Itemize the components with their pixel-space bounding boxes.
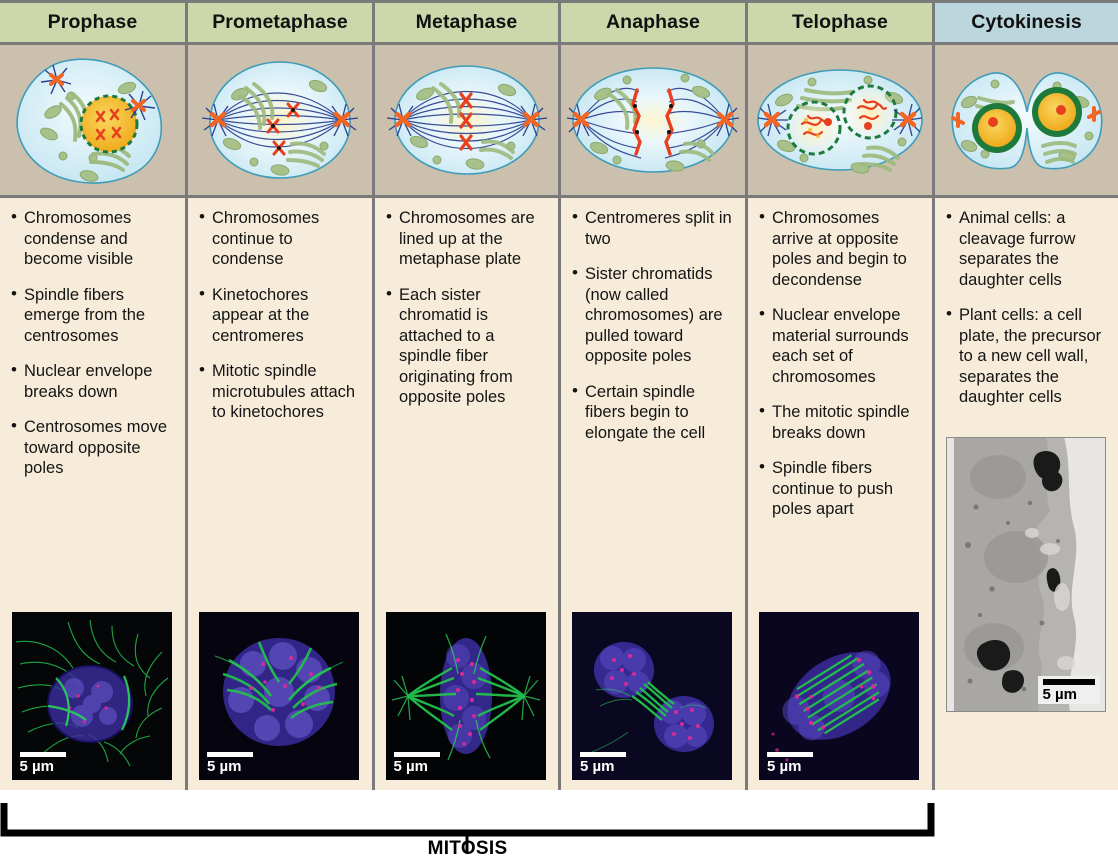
panel-anaphase: Centromeres split in two Sister chromati… <box>561 198 745 790</box>
scale-bar-line <box>207 752 253 757</box>
header-cytokinesis: Cytokinesis <box>935 0 1118 45</box>
panel-telophase: Chromosomes arrive at opposite poles and… <box>748 198 932 790</box>
mitosis-figure: Prophase <box>0 0 1118 861</box>
scale-bar-label: 5 µm <box>394 758 429 775</box>
header-telophase: Telophase <box>748 0 932 45</box>
column-telophase: Telophase <box>748 0 935 790</box>
bullet-item: Spindle fibers emerge from the centrosom… <box>10 285 177 347</box>
micrograph-wrap-telophase: 5 µm <box>754 612 924 782</box>
scale-bar-telophase: 5 µm <box>767 752 813 774</box>
micrograph-wrap-anaphase: 5 µm <box>567 612 737 782</box>
panel-cytokinesis: Animal cells: a cleavage furrow separate… <box>935 198 1118 790</box>
bullet-item: Spindle fibers continue to push poles ap… <box>758 458 924 520</box>
column-prometaphase: Prometaphase <box>188 0 375 790</box>
bullet-item: Chromosomes condense and become visible <box>10 208 177 270</box>
scale-bar-anaphase: 5 µm <box>580 752 626 774</box>
bullet-item: Centromeres split in two <box>571 208 737 249</box>
prophase-fluorescence-micrograph: 5 µm <box>12 612 172 780</box>
bullets-prometaphase: Chromosomes continue to condense Kinetoc… <box>194 208 364 438</box>
bullet-item: Chromosomes arrive at opposite poles and… <box>758 208 924 290</box>
scale-bar-label: 5 µm <box>20 758 55 775</box>
bullets-cytokinesis: Animal cells: a cleavage furrow separate… <box>941 208 1110 423</box>
scale-bar-label: 5 µm <box>767 758 802 775</box>
column-cytokinesis: Cytokinesis <box>935 0 1118 790</box>
bullets-anaphase: Centromeres split in two Sister chromati… <box>567 208 737 458</box>
column-prophase: Prophase <box>0 0 188 790</box>
bullet-item: Chromosomes are lined up at the metaphas… <box>385 208 550 270</box>
scale-bar-cytokinesis: 5 µm <box>1038 676 1100 704</box>
phase-table: Prophase <box>0 0 1118 790</box>
micrograph-wrap-prometaphase: 5 µm <box>194 612 364 782</box>
panel-prophase: Chromosomes condense and become visible … <box>0 198 185 790</box>
bullet-item: Certain spindle fibers begin to elongate… <box>571 382 737 444</box>
scale-bar-prophase: 5 µm <box>20 752 66 774</box>
bullet-item: Animal cells: a cleavage furrow separate… <box>945 208 1110 290</box>
bullets-telophase: Chromosomes arrive at opposite poles and… <box>754 208 924 535</box>
header-prometaphase: Prometaphase <box>188 0 372 45</box>
header-metaphase: Metaphase <box>375 0 558 45</box>
scale-bar-line <box>1043 679 1095 685</box>
illustration-metaphase <box>375 45 558 198</box>
bullet-item: Plant cells: a cell plate, the precursor… <box>945 305 1110 408</box>
bullet-item: Each sister chromatid is attached to a s… <box>385 285 550 408</box>
mitosis-label: MITOSIS <box>0 838 935 860</box>
metaphase-fluorescence-micrograph: 5 µm <box>386 612 546 780</box>
micrograph-wrap-cytokinesis: 5 µm <box>941 437 1110 714</box>
illustration-cytokinesis <box>935 45 1118 198</box>
scale-bar-metaphase: 5 µm <box>394 752 440 774</box>
scale-bar-label: 5 µm <box>580 758 615 775</box>
bullet-item: Chromosomes continue to condense <box>198 208 364 270</box>
illustration-prophase <box>0 45 185 198</box>
illustration-anaphase <box>561 45 745 198</box>
scale-bar-label: 5 µm <box>207 758 242 775</box>
scale-bar-line <box>394 752 440 757</box>
header-anaphase: Anaphase <box>561 0 745 45</box>
scale-bar-line <box>580 752 626 757</box>
cytokinesis-electron-micrograph: 5 µm <box>946 437 1106 712</box>
illustration-prometaphase <box>188 45 372 198</box>
column-metaphase: Metaphase <box>375 0 561 790</box>
scale-bar-prometaphase: 5 µm <box>207 752 253 774</box>
panel-metaphase: Chromosomes are lined up at the metaphas… <box>375 198 558 790</box>
bullets-prophase: Chromosomes condense and become visible … <box>6 208 177 494</box>
scale-bar-line <box>767 752 813 757</box>
prometaphase-fluorescence-micrograph: 5 µm <box>199 612 359 780</box>
scale-bar-line <box>20 752 66 757</box>
micrograph-wrap-metaphase: 5 µm <box>381 612 550 782</box>
bullet-item: Sister chromatids (now called chromosome… <box>571 264 737 367</box>
header-prophase: Prophase <box>0 0 185 45</box>
bullet-item: Nuclear envelope breaks down <box>10 361 177 402</box>
bullet-item: The mitotic spindle breaks down <box>758 402 924 443</box>
bullet-item: Nuclear envelope material surrounds each… <box>758 305 924 387</box>
scale-bar-label: 5 µm <box>1043 686 1078 703</box>
illustration-telophase <box>748 45 932 198</box>
anaphase-fluorescence-micrograph: 5 µm <box>572 612 732 780</box>
micrograph-wrap-prophase: 5 µm <box>6 612 177 782</box>
bullet-item: Kinetochores appear at the centromeres <box>198 285 364 347</box>
bullet-item: Centrosomes move toward opposite poles <box>10 417 177 479</box>
column-anaphase: Anaphase <box>561 0 748 790</box>
telophase-fluorescence-micrograph: 5 µm <box>759 612 919 780</box>
bullet-item: Mitotic spindle microtubules attach to k… <box>198 361 364 423</box>
panel-prometaphase: Chromosomes continue to condense Kinetoc… <box>188 198 372 790</box>
bullets-metaphase: Chromosomes are lined up at the metaphas… <box>381 208 550 423</box>
